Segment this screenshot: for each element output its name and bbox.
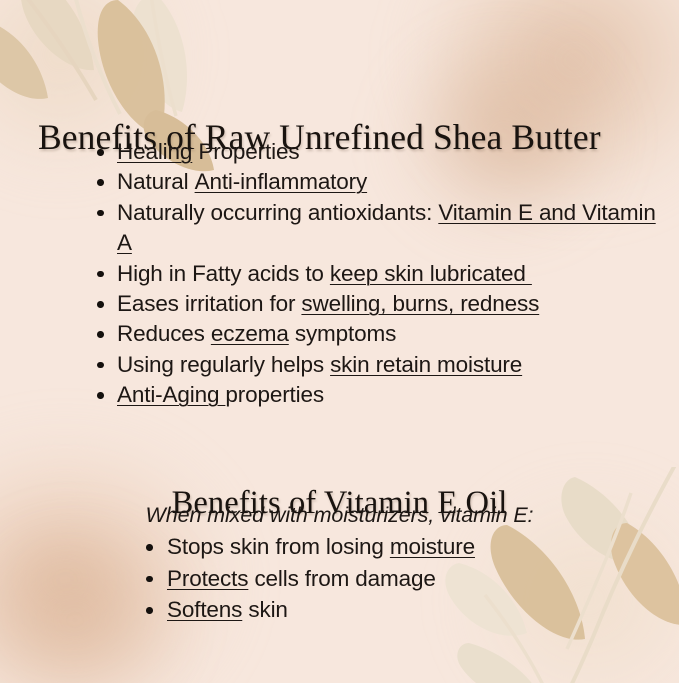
underlined-text: moisture <box>390 534 475 559</box>
list-item-anti-aging: Anti-Aging properties <box>96 380 656 410</box>
plain-text: cells from damage <box>248 566 435 591</box>
underlined-text: keep skin lubricated <box>330 261 532 286</box>
plain-text: Stops skin from losing <box>167 534 390 559</box>
underlined-text: Anti-Aging <box>117 382 225 407</box>
list-item-retain-moisture: Using regularly helps skin retain moistu… <box>96 350 656 380</box>
plain-text: Properties <box>192 139 299 164</box>
shea-benefits-list: Healing PropertiesNatural Anti-inflammat… <box>96 137 656 411</box>
plain-text: properties <box>225 382 324 407</box>
list-item-softens-skin: Softens skin <box>145 594 585 626</box>
list-item-healing: Healing Properties <box>96 137 656 167</box>
underlined-text: Softens <box>167 597 242 622</box>
underlined-text: swelling, burns, redness <box>301 291 539 316</box>
plain-text: Eases irritation for <box>117 291 301 316</box>
list-item-irritation: Eases irritation for swelling, burns, re… <box>96 289 656 319</box>
plain-text: Natural <box>117 169 195 194</box>
vitamin-e-intro-text: When mixed with moisturizers, vitamin E: <box>0 502 679 528</box>
list-item-fatty-acids: High in Fatty acids to keep skin lubrica… <box>96 259 656 289</box>
plain-text: symptoms <box>289 321 396 346</box>
poster-canvas: Benefits of Raw Unrefined Shea Butter He… <box>0 0 679 683</box>
list-item-antioxidants: Naturally occurring antioxidants: Vitami… <box>96 198 656 259</box>
poster-content: Benefits of Raw Unrefined Shea Butter He… <box>0 0 679 683</box>
plain-text: Reduces <box>117 321 211 346</box>
underlined-text: skin retain moisture <box>330 352 522 377</box>
list-item-protects-cells: Protects cells from damage <box>145 563 585 595</box>
list-item-anti-inflammatory: Natural Anti-inflammatory <box>96 167 656 197</box>
list-item-eczema: Reduces eczema symptoms <box>96 319 656 349</box>
plain-text: skin <box>242 597 288 622</box>
underlined-text: eczema <box>211 321 289 346</box>
plain-text: Using regularly helps <box>117 352 330 377</box>
underlined-text: Protects <box>167 566 248 591</box>
vitamin-e-benefits-list: Stops skin from losing moistureProtects … <box>145 531 585 626</box>
list-item-stops-losing-moisture: Stops skin from losing moisture <box>145 531 585 563</box>
underlined-text: Anti-inflammatory <box>195 169 368 194</box>
plain-text: Naturally occurring antioxidants: <box>117 200 438 225</box>
plain-text: High in Fatty acids to <box>117 261 330 286</box>
underlined-text: Healing <box>117 139 192 164</box>
